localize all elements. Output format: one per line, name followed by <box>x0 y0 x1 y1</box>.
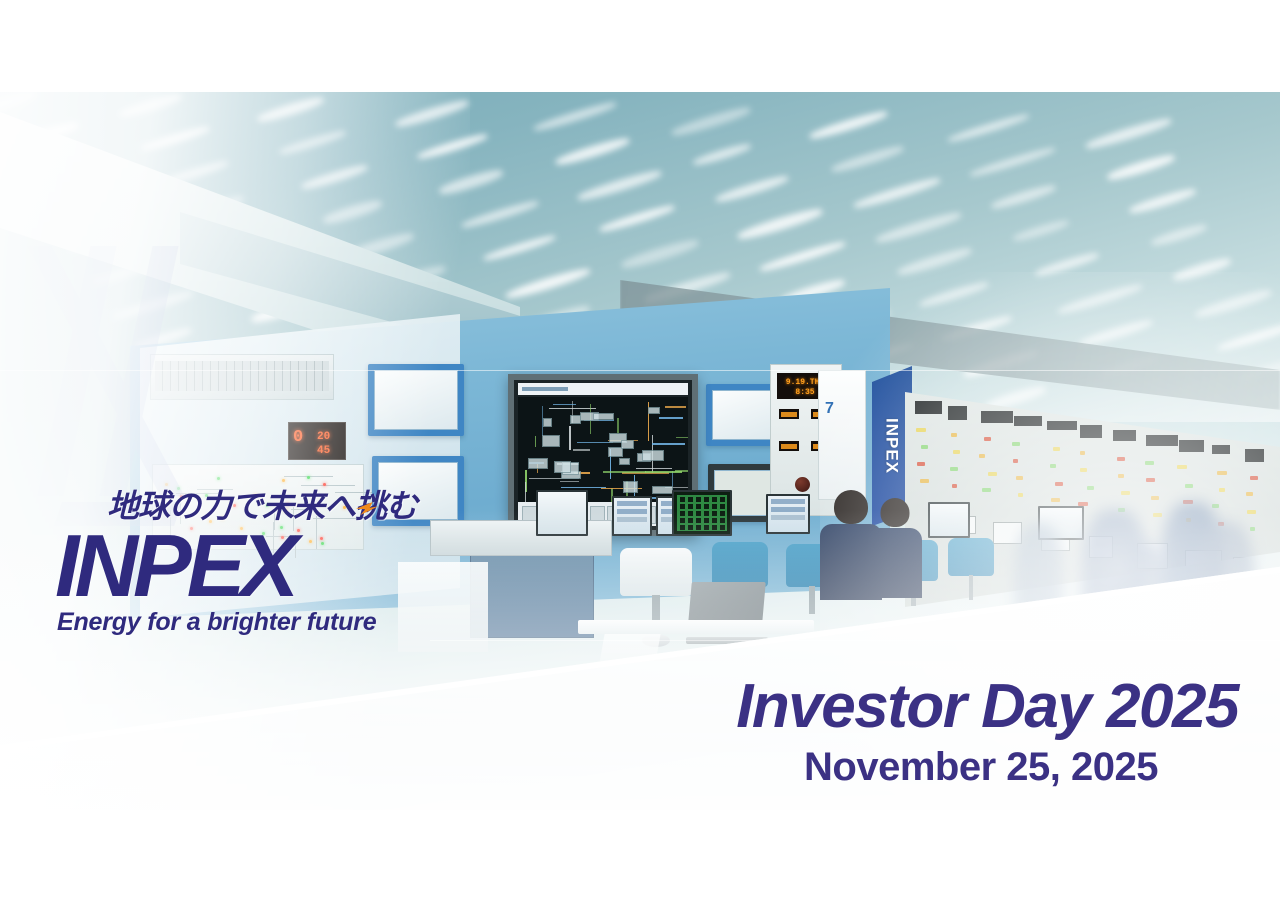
scada-block <box>621 440 635 449</box>
highlight-line-1 <box>0 370 1280 371</box>
ceiling-light <box>714 173 789 205</box>
ceiling-light <box>1012 218 1070 244</box>
scada-element <box>573 449 590 451</box>
ceiling-light <box>692 141 752 167</box>
ceiling-light <box>830 143 905 174</box>
highlight-line-2 <box>430 640 1280 641</box>
ceiling-light <box>504 265 592 302</box>
scada-block <box>652 486 673 493</box>
ceiling-light <box>482 233 556 262</box>
scada-block <box>642 450 664 461</box>
scada-block <box>648 407 660 414</box>
scada-element <box>672 471 674 486</box>
logo-japanese-tagline: 地球の力で未来へ挑む <box>107 488 485 524</box>
inpex-wordmark: INPEX <box>55 526 485 606</box>
ceiling-light <box>1150 222 1209 249</box>
scada-block <box>570 415 581 424</box>
scada-element <box>561 487 606 489</box>
alarm-lamp <box>795 477 810 492</box>
ceiling-light <box>1106 152 1176 183</box>
top-white-band <box>0 0 1280 92</box>
ceiling-light <box>759 239 846 273</box>
scada-element <box>560 481 580 483</box>
scada-block <box>593 413 614 421</box>
scada-element <box>675 470 688 472</box>
ceiling-light <box>808 108 889 141</box>
ceiling-light <box>736 205 824 242</box>
ceiling-light <box>670 104 752 138</box>
ceiling-light <box>874 209 962 246</box>
scada-element <box>636 468 672 470</box>
scada-element <box>535 436 537 446</box>
scada-element <box>665 406 686 408</box>
scada-block <box>619 458 630 465</box>
scada-element <box>676 437 688 439</box>
ceiling-light <box>598 203 675 234</box>
title-slide: 0 20 45 9.19.THU 8:35 <box>0 0 1280 905</box>
scada-block <box>542 435 560 447</box>
scada-element <box>617 418 619 433</box>
ceiling-light <box>1128 186 1197 215</box>
scada-element <box>553 404 576 406</box>
bottom-white-band <box>0 810 1280 905</box>
scada-block <box>528 458 549 468</box>
ceiling-light <box>853 175 942 210</box>
ceiling-light <box>620 237 700 271</box>
slide-title: Investor Day 2025 <box>736 672 1238 742</box>
ceiling-light <box>533 100 618 134</box>
ceiling-light <box>990 183 1057 212</box>
ceiling-light <box>969 145 1056 179</box>
title-block: Investor Day 2025 November 25, 2025 <box>736 672 1238 790</box>
scada-element <box>603 471 646 473</box>
scada-element <box>659 417 684 419</box>
scada-element <box>652 443 685 445</box>
slide-date: November 25, 2025 <box>736 744 1158 790</box>
scada-element <box>577 442 613 444</box>
logo-english-tagline: Energy for a brighter future <box>57 608 485 636</box>
ceiling-light <box>576 167 663 203</box>
ceiling-light <box>947 112 1031 145</box>
scada-block <box>623 481 638 493</box>
ceiling-light <box>1084 115 1173 151</box>
ceiling-light <box>554 135 631 168</box>
ceiling-light <box>460 199 539 230</box>
inpex-logo-lockup: 地球の力で未来へ挑む INPEX Energy for a brighter f… <box>55 488 485 636</box>
scada-block <box>543 418 552 427</box>
scada-element <box>569 426 571 450</box>
scada-block <box>554 461 571 472</box>
